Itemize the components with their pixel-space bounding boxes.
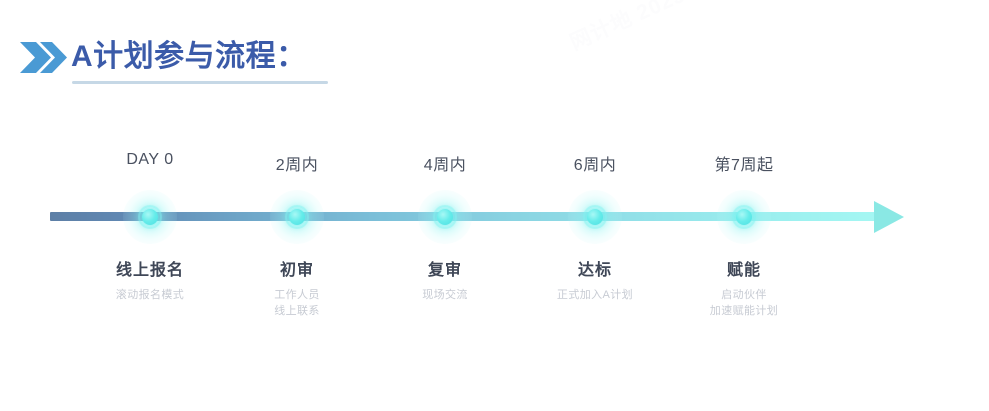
node-dot-icon bbox=[736, 209, 752, 225]
page-title: A计划参与流程： bbox=[71, 39, 307, 75]
stage-description: 启动伙伴 加速赋能计划 bbox=[649, 287, 839, 319]
time-label: 第7周起 bbox=[659, 151, 829, 175]
node-dot-icon bbox=[437, 209, 453, 225]
page-header: A计划参与流程： bbox=[0, 0, 989, 100]
stage-block: 赋能 启动伙伴 加速赋能计划 bbox=[649, 260, 839, 319]
node-dot-icon bbox=[142, 209, 158, 225]
time-label: 2周内 bbox=[212, 151, 382, 175]
time-label: DAY 0 bbox=[65, 151, 235, 169]
time-label: 6周内 bbox=[510, 151, 680, 175]
title-underline bbox=[72, 81, 328, 84]
node-dot-icon bbox=[587, 209, 603, 225]
node-dot-icon bbox=[289, 209, 305, 225]
double-chevron-right-icon bbox=[18, 41, 70, 74]
stage-title: 赋能 bbox=[649, 260, 839, 282]
process-timeline: DAY 0 线上报名 滚动报名模式 2周内 初审 工作人员 线上联系 4周内 复… bbox=[0, 130, 989, 360]
time-label: 4周内 bbox=[360, 151, 530, 175]
timeline-arrow-icon bbox=[874, 201, 904, 233]
